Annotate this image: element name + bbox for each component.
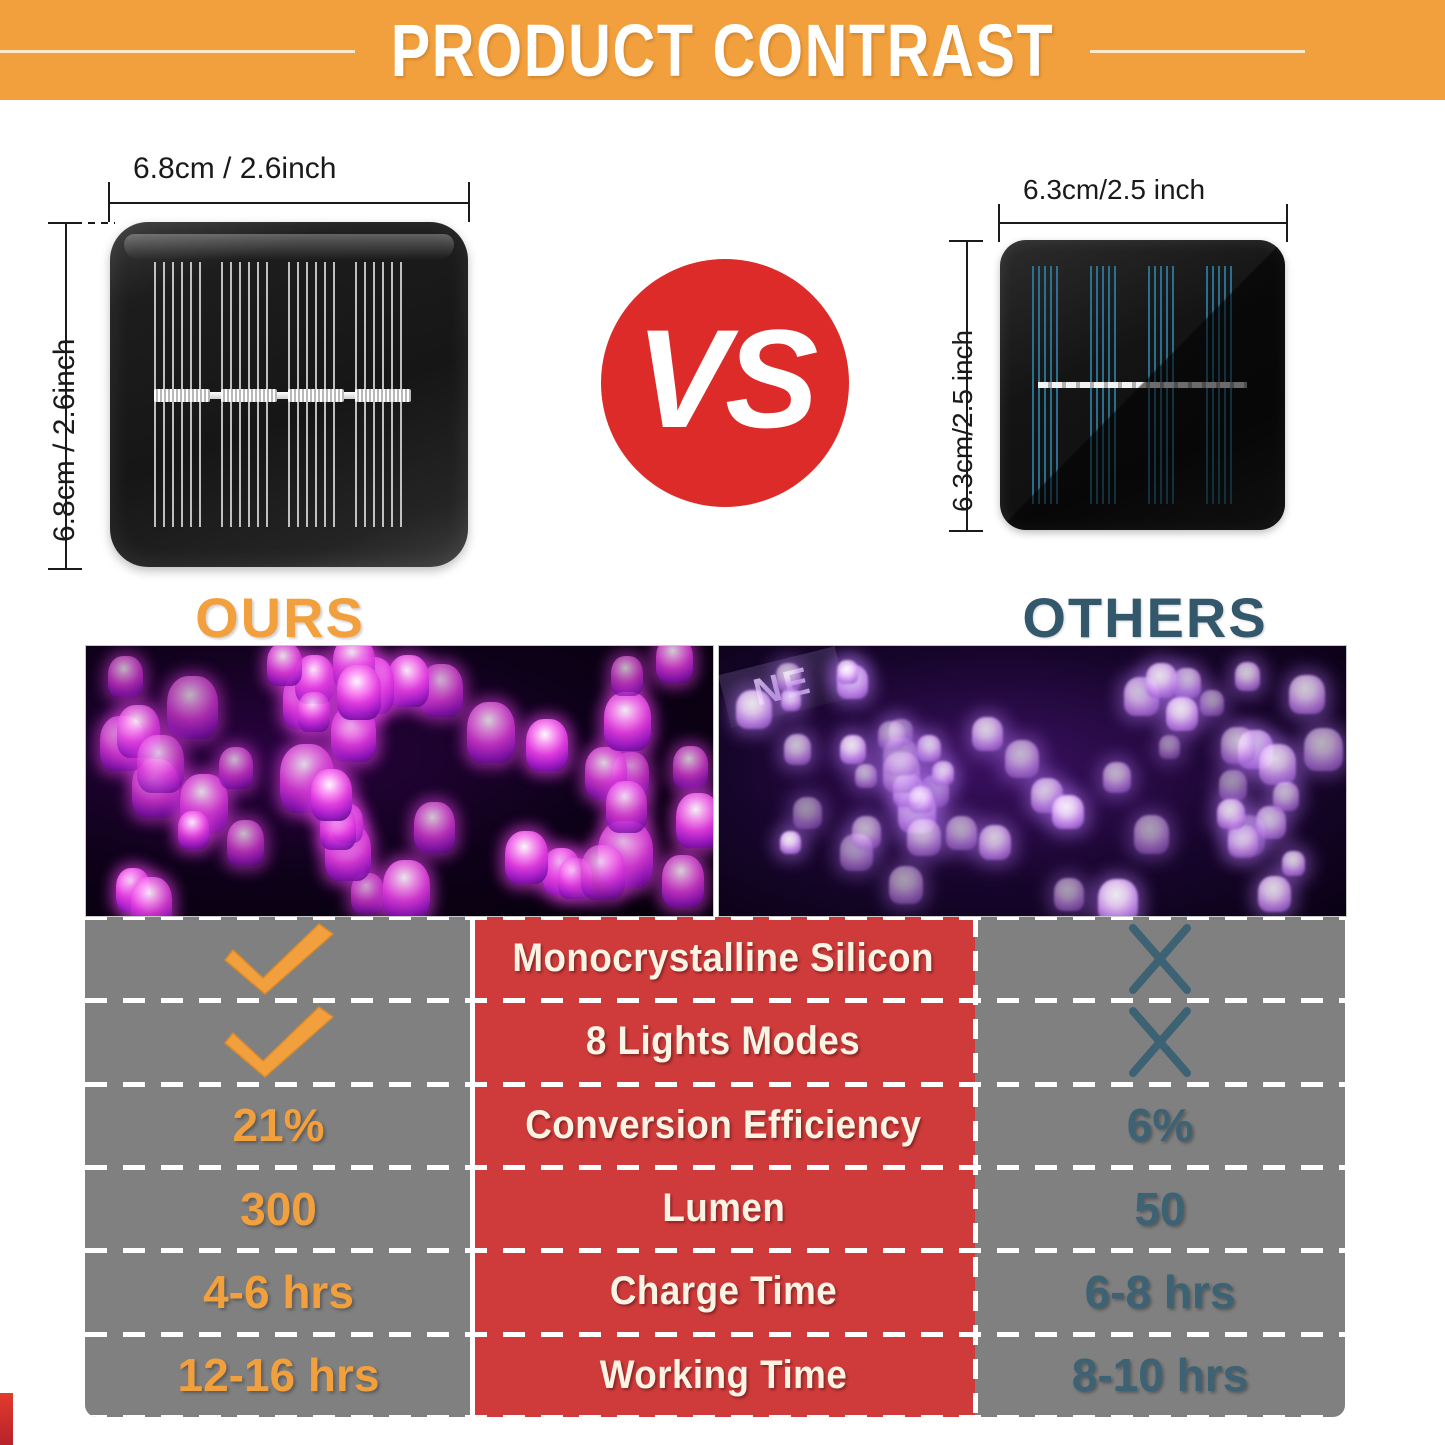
led-bulb — [1256, 806, 1286, 839]
mono-contact-pad — [221, 389, 277, 402]
feature-label: Monocrystalline Silicon — [513, 936, 935, 981]
others-solar-panel-image — [1000, 240, 1285, 530]
mono-contact-pad — [288, 389, 344, 402]
led-bulb — [1005, 740, 1040, 778]
led-bulb — [298, 692, 330, 732]
others-width-label: 6.3cm/2.5 inch — [1023, 174, 1205, 206]
led-bulb — [505, 831, 548, 885]
page-header: PRODUCT CONTRAST — [0, 0, 1445, 100]
others-value: 8-10 hrs — [1072, 1348, 1248, 1402]
check-icon — [219, 920, 339, 998]
led-bulb — [167, 676, 218, 739]
others-value-cell: 6% — [975, 1084, 1345, 1167]
led-bulb — [1259, 744, 1296, 785]
ours-value-cell — [85, 917, 472, 1000]
led-bulb — [878, 721, 905, 750]
led-bulb — [979, 825, 1011, 860]
led-bulb — [1304, 728, 1343, 771]
led-bulb — [1217, 799, 1245, 830]
product-comparison-area: 6.8cm / 2.6inch 6.8cm / 2.6inch — [0, 100, 1445, 630]
led-bulb — [1289, 675, 1325, 714]
page-title: PRODUCT CONTRAST — [145, 0, 1301, 100]
ours-value-cell — [85, 1000, 472, 1083]
led-bulb — [776, 663, 801, 691]
others-value-cell — [975, 917, 1345, 1000]
led-bulb — [1235, 662, 1261, 690]
led-bulb — [1146, 663, 1177, 697]
led-bulb — [1098, 879, 1138, 917]
corner-marker — [0, 1393, 13, 1445]
others-led-photo: NE — [718, 645, 1347, 917]
others-width-tick-right — [1286, 204, 1288, 242]
ours-value: 21% — [232, 1098, 324, 1152]
others-value: 50 — [1134, 1182, 1185, 1236]
led-bulb — [909, 786, 934, 813]
feature-label: Lumen — [662, 1186, 785, 1231]
led-bulb — [1228, 825, 1258, 858]
ours-height-lead-top — [75, 222, 115, 224]
led-bulb — [1273, 782, 1299, 811]
others-height-tick-bottom — [949, 530, 983, 532]
led-bulb — [907, 819, 941, 857]
feature-label: 8 Lights Modes — [586, 1019, 860, 1064]
others-value-cell: 50 — [975, 1167, 1345, 1250]
others-product-group: 6.3cm/2.5 inch 6.3cm/2.5 inch — [935, 130, 1355, 630]
ours-solar-panel-image — [110, 222, 468, 567]
mono-cell-grid — [154, 262, 424, 527]
led-bulb — [855, 764, 877, 788]
ours-product-group: 6.8cm / 2.6inch 6.8cm / 2.6inch — [40, 130, 520, 630]
led-bulb — [526, 719, 568, 771]
led-bulb — [604, 692, 651, 751]
led-bulb — [1134, 815, 1169, 853]
ours-value: 12-16 hrs — [177, 1348, 379, 1402]
feature-label-cell: Monocrystalline Silicon — [472, 917, 975, 1000]
others-value: 6% — [1127, 1098, 1193, 1152]
led-bulb — [267, 645, 302, 686]
led-bulb — [108, 656, 142, 699]
led-bulb — [656, 645, 693, 683]
ours-value-cell: 21% — [85, 1084, 472, 1167]
led-bulb — [311, 769, 352, 821]
cross-icon — [1123, 922, 1197, 996]
led-bulb — [414, 802, 455, 853]
feature-label-cell: Charge Time — [472, 1250, 975, 1333]
led-bulb — [793, 797, 822, 829]
led-bulb — [337, 665, 381, 720]
ours-height-tick-bottom — [48, 568, 82, 570]
led-bulb — [467, 702, 516, 763]
ours-width-label: 6.8cm / 2.6inch — [133, 152, 336, 186]
ours-height-label: 6.8cm / 2.6inch — [48, 339, 82, 542]
led-bulb — [1054, 878, 1084, 911]
others-width-dimension-line — [998, 222, 1288, 224]
led-bulb — [1200, 690, 1224, 716]
table-row: 8 Lights Modes — [85, 1000, 1345, 1083]
led-bulb — [780, 831, 801, 855]
ours-value-cell: 12-16 hrs — [85, 1333, 472, 1416]
led-bulb — [946, 816, 977, 850]
others-height-tick-top — [949, 240, 983, 242]
ours-width-tick-right — [468, 182, 470, 222]
feature-label: Conversion Efficiency — [525, 1103, 921, 1148]
led-bulb — [852, 816, 881, 848]
led-bulb — [606, 781, 648, 833]
led-bulb — [781, 688, 801, 710]
led-bulb — [227, 820, 264, 866]
led-bulb — [611, 656, 643, 696]
photo-comparison-row: NE — [85, 645, 1347, 917]
led-bulb — [917, 735, 941, 762]
vs-badge: VS — [601, 259, 849, 507]
ours-value-cell: 4-6 hrs — [85, 1250, 472, 1333]
comparison-table: Monocrystalline Silicon8 Lights Modes21%… — [85, 917, 1345, 1417]
ours-value-cell: 300 — [85, 1167, 472, 1250]
table-row: 21%Conversion Efficiency6% — [85, 1084, 1345, 1167]
feature-label-cell: Lumen — [472, 1167, 975, 1250]
led-bulb — [1166, 697, 1198, 732]
ours-width-tick-left — [108, 182, 110, 222]
cross-icon — [1123, 1005, 1197, 1079]
led-bulb — [1219, 770, 1247, 801]
led-bulb — [972, 717, 1003, 751]
led-bulb — [889, 866, 923, 904]
others-value-cell: 8-10 hrs — [975, 1333, 1345, 1416]
others-width-tick-left — [998, 204, 1000, 242]
others-caption: OTHERS — [935, 585, 1355, 650]
led-bulb — [1258, 876, 1292, 913]
mono-contact-pad — [355, 389, 411, 402]
led-bulb — [1282, 851, 1305, 876]
mono-contact-pad — [154, 389, 210, 402]
table-row: 300Lumen50 — [85, 1167, 1345, 1250]
feature-label: Working Time — [600, 1353, 847, 1398]
others-value-cell — [975, 1000, 1345, 1083]
led-bulb — [840, 735, 866, 764]
led-bulb — [932, 761, 954, 785]
table-row: 12-16 hrsWorking Time8-10 hrs — [85, 1333, 1345, 1416]
ours-value: 300 — [240, 1182, 317, 1236]
led-bulb — [219, 747, 253, 789]
led-bulb — [1103, 762, 1131, 793]
others-value: 6-8 hrs — [1085, 1265, 1236, 1319]
feature-label-cell: Working Time — [472, 1333, 975, 1416]
led-bulb — [581, 845, 625, 900]
ours-width-dimension-line — [108, 202, 470, 204]
vs-label: VS — [636, 309, 815, 449]
others-value-cell: 6-8 hrs — [975, 1250, 1345, 1333]
check-icon — [219, 1003, 339, 1081]
ours-caption: OURS — [40, 585, 520, 650]
led-bulb — [837, 660, 859, 684]
others-height-label: 6.3cm/2.5 inch — [947, 330, 979, 512]
led-bulb — [1173, 668, 1200, 698]
led-bulb — [1221, 727, 1255, 764]
led-bulb — [784, 734, 812, 764]
led-bulb — [676, 793, 714, 848]
feature-label-cell: 8 Lights Modes — [472, 1000, 975, 1083]
feature-label-cell: Conversion Efficiency — [472, 1084, 975, 1167]
table-row: 4-6 hrsCharge Time6-8 hrs — [85, 1250, 1345, 1333]
ours-value: 4-6 hrs — [203, 1265, 354, 1319]
led-bulb — [673, 746, 707, 789]
feature-label: Charge Time — [610, 1269, 837, 1314]
led-bulb — [178, 811, 209, 849]
table-row: Monocrystalline Silicon — [85, 917, 1345, 1000]
led-bulb — [736, 690, 772, 729]
led-bulb — [137, 735, 183, 793]
poly-shadow-overlay — [1000, 240, 1285, 530]
led-bulb — [383, 860, 430, 917]
led-bulb — [1159, 735, 1180, 758]
led-bulb — [1052, 795, 1083, 830]
ours-led-photo — [85, 645, 714, 917]
led-bulb — [662, 855, 704, 907]
led-bulb — [131, 877, 172, 917]
